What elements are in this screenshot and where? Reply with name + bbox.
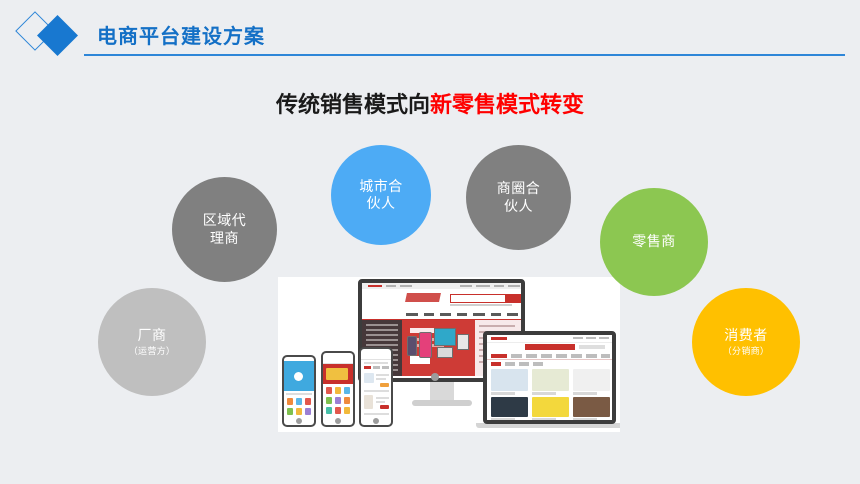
tablet-product-card [491, 369, 528, 391]
bubble-retailer[interactable]: 零售商 [600, 188, 708, 296]
bubble-city-partner-label-line2: 伙人 [367, 195, 396, 213]
tablet-device [483, 331, 616, 424]
tablet-product-card [573, 369, 610, 391]
bubble-district-partner-label-line1: 商圈合 [497, 180, 541, 198]
bubble-city-partner[interactable]: 城市合 伙人 [331, 145, 431, 245]
phone-app-header [361, 353, 391, 360]
bubble-regional-agent[interactable]: 区域代 理商 [172, 177, 277, 282]
bubble-retailer-label: 零售商 [632, 233, 676, 251]
phone-product-thumb [364, 395, 373, 409]
slide-header: 电商平台建设方案 [0, 0, 860, 70]
bubble-consumer-label: 消费者 [724, 327, 768, 345]
monitor-stand-neck [430, 381, 454, 401]
page-title-accent: 新零售模式转变 [430, 92, 584, 117]
phone-product-thumb [364, 373, 374, 383]
phone-device [282, 355, 316, 427]
phone-home-button [335, 418, 341, 424]
site-hero-banner [402, 320, 475, 376]
page-title-prefix: 传统销售模式向 [276, 92, 430, 117]
phone-screen [361, 353, 391, 416]
phone-device [359, 347, 393, 427]
slide-canvas: 电商平台建设方案 传统销售模式向新零售模式转变 [0, 0, 860, 484]
monitor-stand [412, 381, 472, 411]
site-search-button [505, 294, 522, 303]
page-title: 传统销售模式向新零售模式转变 [0, 87, 860, 119]
phone-home-button [296, 418, 302, 424]
tablet-product-card [532, 397, 569, 417]
bubble-city-partner-label-line1: 城市合 [359, 178, 403, 196]
bubble-district-partner-label-line2: 伙人 [504, 198, 533, 216]
phone-device [321, 351, 355, 427]
phone-screen [323, 357, 353, 416]
header-divider [84, 54, 845, 56]
site-logo-icon [405, 293, 441, 302]
phone-banner-art [326, 368, 348, 380]
monitor-power-button [431, 373, 439, 381]
bubble-manufacturer-sublabel: （运营方） [129, 346, 176, 357]
phone-banner-icon [294, 372, 303, 381]
tablet-product-card [573, 397, 610, 417]
phone-home-button [373, 418, 379, 424]
tablet-search-bar [525, 344, 575, 350]
bubble-manufacturer-label: 厂商 [138, 327, 167, 345]
multi-device-ecommerce-mockup [278, 277, 620, 432]
bubble-consumer[interactable]: 消费者 （分销商） [692, 288, 800, 396]
monitor-stand-base [412, 400, 472, 406]
bubble-manufacturer[interactable]: 厂商 （运营方） [98, 288, 206, 396]
bubble-district-partner[interactable]: 商圈合 伙人 [466, 145, 571, 250]
bubble-regional-agent-label-line1: 区域代 [203, 212, 247, 230]
site-hotwords [450, 304, 512, 306]
phone-app-header [323, 357, 353, 364]
bubble-regional-agent-label-line2: 理商 [210, 230, 239, 248]
site-nav [362, 311, 521, 320]
double-diamond-icon [18, 13, 94, 59]
hero-device-illustration [407, 326, 469, 368]
phone-screen [284, 361, 314, 416]
tablet-product-card [532, 369, 569, 391]
bubble-consumer-sublabel: （分销商） [723, 346, 770, 357]
header-title: 电商平台建设方案 [97, 20, 265, 49]
site-header [362, 289, 521, 311]
tablet-product-card [491, 397, 528, 417]
